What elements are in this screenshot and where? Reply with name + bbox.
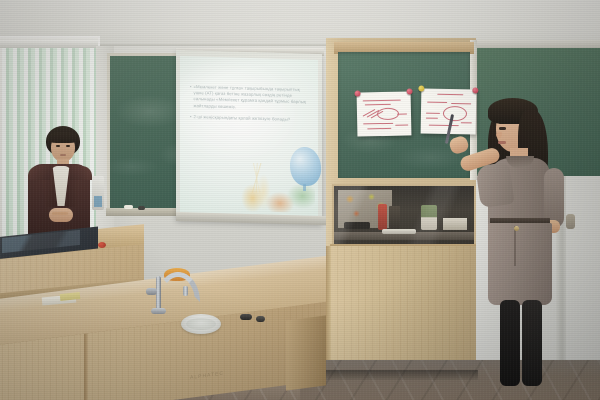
bench-side-panel bbox=[286, 315, 326, 390]
bullet-dot-icon: • bbox=[190, 114, 192, 120]
faucet-spout bbox=[183, 286, 188, 296]
gas-valve-knob[interactable] bbox=[240, 314, 252, 320]
nose bbox=[496, 132, 502, 138]
push-pin-icon bbox=[406, 88, 412, 94]
shoulder-left bbox=[28, 166, 50, 180]
blind-rail[interactable] bbox=[0, 40, 98, 48]
hand-left-pointing bbox=[448, 135, 470, 156]
eye bbox=[499, 127, 506, 130]
eraser-icon bbox=[138, 206, 145, 210]
slide-bullet-text: «Мемлекет және тұлға» тақырыбында тақыры… bbox=[194, 84, 306, 112]
eye-left bbox=[56, 145, 60, 147]
skirt-seam bbox=[514, 226, 516, 266]
fingers bbox=[52, 212, 68, 215]
dress-button bbox=[514, 226, 519, 231]
dress-skirt bbox=[488, 223, 552, 305]
clasped-hands bbox=[49, 208, 73, 222]
faucet-base bbox=[151, 308, 166, 314]
eye-right bbox=[66, 145, 70, 147]
light-switch-toggle[interactable] bbox=[94, 196, 102, 207]
person-presenter-left bbox=[16, 126, 88, 244]
classroom-photo: • «Мемлекет және тұлға» тақырыбында тақы… bbox=[0, 0, 600, 400]
chalk-stick-icon bbox=[124, 205, 133, 209]
mouth bbox=[60, 154, 66, 156]
slide-text-block: • «Мемлекет және тұлға» тақырыбында тақы… bbox=[190, 84, 306, 187]
leg-right bbox=[522, 300, 542, 386]
slide-bullet: • 2-ші жеңісқарындағы қалай жеткізуге бо… bbox=[190, 114, 306, 123]
poster-handwriting bbox=[357, 91, 412, 136]
leg-left bbox=[500, 300, 520, 386]
slide-bullet: • «Мемлекет және тұлға» тақырыбында тақы… bbox=[190, 84, 306, 112]
shoulder-right bbox=[70, 166, 92, 180]
sink-inner bbox=[186, 318, 216, 330]
faucet-neck[interactable] bbox=[156, 276, 161, 312]
hair-fringe bbox=[47, 132, 79, 143]
sleeve-left bbox=[475, 162, 515, 208]
faucet-valve-handle[interactable] bbox=[146, 288, 157, 295]
cabinet-edge bbox=[326, 246, 331, 378]
push-pin-icon bbox=[355, 90, 361, 96]
mouth bbox=[498, 141, 506, 144]
slide-bullet-text: 2-ші жеңісқарындағы қалай жеткізуге бола… bbox=[194, 114, 291, 123]
bullet-dot-icon: • bbox=[190, 84, 192, 109]
gas-valve-knob[interactable] bbox=[256, 316, 265, 322]
poster-left[interactable] bbox=[357, 91, 412, 136]
push-pin-icon bbox=[418, 85, 424, 91]
person-presenter-right bbox=[452, 92, 570, 392]
bench-leg bbox=[84, 330, 88, 400]
red-button[interactable] bbox=[98, 242, 106, 248]
